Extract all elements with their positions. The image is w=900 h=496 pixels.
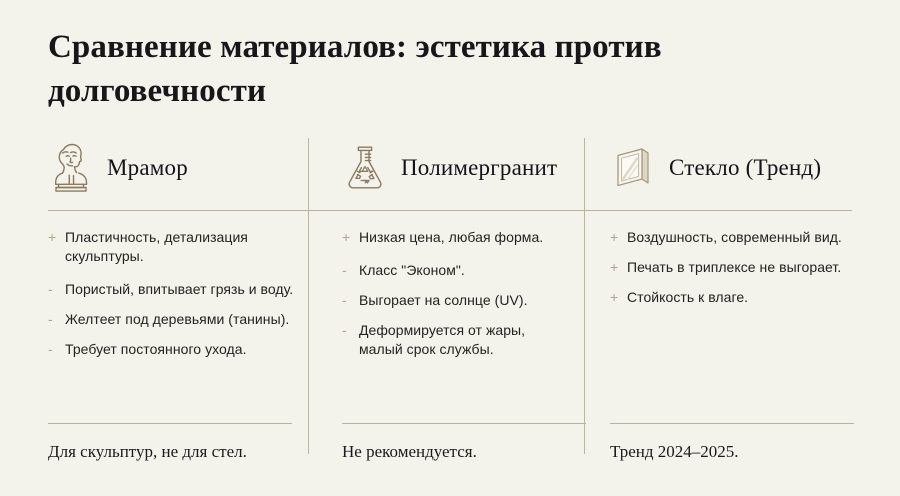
footer-verdict: Тренд 2024–2025. bbox=[610, 442, 852, 462]
bullet-marker-minus: - bbox=[48, 280, 65, 299]
list-item: + Пластичность, детализация скульптуры. bbox=[48, 228, 294, 266]
list-item-text: Класс "Эконом". bbox=[359, 261, 562, 280]
comparison-table: Мрамор + Пластичность, детализация скуль… bbox=[48, 132, 852, 462]
feature-list: + Воздушность, современный вид. + Печать… bbox=[610, 210, 852, 413]
bullet-marker-minus: - bbox=[342, 291, 359, 310]
glass-pane-icon bbox=[610, 142, 656, 194]
material-column-polymer-granite: Полимергранит + Низкая цена, любая форма… bbox=[316, 132, 584, 462]
feature-list: + Низкая цена, любая форма. - Класс "Эко… bbox=[342, 210, 562, 413]
bullet-marker-minus: - bbox=[342, 261, 359, 280]
column-title: Мрамор bbox=[107, 155, 188, 181]
column-header: Полимергранит bbox=[342, 132, 562, 210]
footer-verdict: Для скульптур, не для стел. bbox=[48, 442, 294, 462]
column-footer: Тренд 2024–2025. bbox=[610, 413, 852, 462]
list-item: - Выгорает на солнце (UV). bbox=[342, 291, 562, 310]
column-footer: Для скульптур, не для стел. bbox=[48, 413, 294, 462]
list-item: - Требует постоянного ухода. bbox=[48, 340, 294, 359]
footer-divider bbox=[610, 423, 854, 424]
list-item-text: Печать в триплексе не выгорает. bbox=[627, 258, 852, 277]
list-item: + Печать в триплексе не выгорает. bbox=[610, 258, 852, 277]
column-title: Полимергранит bbox=[401, 155, 557, 181]
list-item: - Деформируется от жары, малый срок служ… bbox=[342, 321, 562, 359]
list-item: - Желтеет под деревьями (танины). bbox=[48, 310, 294, 329]
material-column-glass: Стекло (Тренд) + Воздушность, современны… bbox=[584, 132, 852, 462]
bullet-marker-plus: + bbox=[610, 228, 627, 247]
bullet-marker-plus: + bbox=[342, 228, 359, 247]
feature-list: + Пластичность, детализация скульптуры. … bbox=[48, 210, 294, 413]
list-item: + Низкая цена, любая форма. bbox=[342, 228, 562, 247]
bullet-marker-minus: - bbox=[48, 310, 65, 329]
column-footer: Не рекомендуется. bbox=[342, 413, 562, 462]
list-item: - Пористый, впитывает грязь и воду. bbox=[48, 280, 294, 299]
page-title: Сравнение материалов: эстетика против до… bbox=[48, 26, 838, 114]
bullet-marker-minus: - bbox=[342, 321, 359, 340]
list-item: + Стойкость к влаге. bbox=[610, 288, 852, 307]
list-item: - Класс "Эконом". bbox=[342, 261, 562, 280]
bullet-marker-plus: + bbox=[48, 228, 65, 247]
bullet-marker-minus: - bbox=[48, 340, 65, 359]
footer-divider bbox=[48, 423, 292, 424]
list-item-text: Низкая цена, любая форма. bbox=[359, 228, 562, 247]
recycling-flask-icon bbox=[342, 142, 388, 194]
footer-verdict: Не рекомендуется. bbox=[342, 442, 562, 462]
material-column-marble: Мрамор + Пластичность, детализация скуль… bbox=[48, 132, 316, 462]
bullet-marker-plus: + bbox=[610, 258, 627, 277]
list-item-text: Деформируется от жары, малый срок службы… bbox=[359, 321, 562, 359]
comparison-slide: Сравнение материалов: эстетика против до… bbox=[0, 0, 900, 496]
list-item-text: Воздушность, современный вид. bbox=[627, 228, 852, 247]
list-item-text: Желтеет под деревьями (танины). bbox=[65, 310, 294, 329]
classical-bust-icon bbox=[48, 142, 94, 194]
list-item-text: Пластичность, детализация скульптуры. bbox=[65, 228, 294, 266]
list-item: + Воздушность, современный вид. bbox=[610, 228, 852, 247]
list-item-text: Выгорает на солнце (UV). bbox=[359, 291, 562, 310]
list-item-text: Требует постоянного ухода. bbox=[65, 340, 294, 359]
list-item-text: Стойкость к влаге. bbox=[627, 288, 852, 307]
list-item-text: Пористый, впитывает грязь и воду. bbox=[65, 280, 294, 299]
column-header: Стекло (Тренд) bbox=[610, 132, 852, 210]
bullet-marker-plus: + bbox=[610, 288, 627, 307]
column-header: Мрамор bbox=[48, 132, 294, 210]
column-title: Стекло (Тренд) bbox=[669, 155, 821, 181]
footer-divider bbox=[342, 423, 586, 424]
